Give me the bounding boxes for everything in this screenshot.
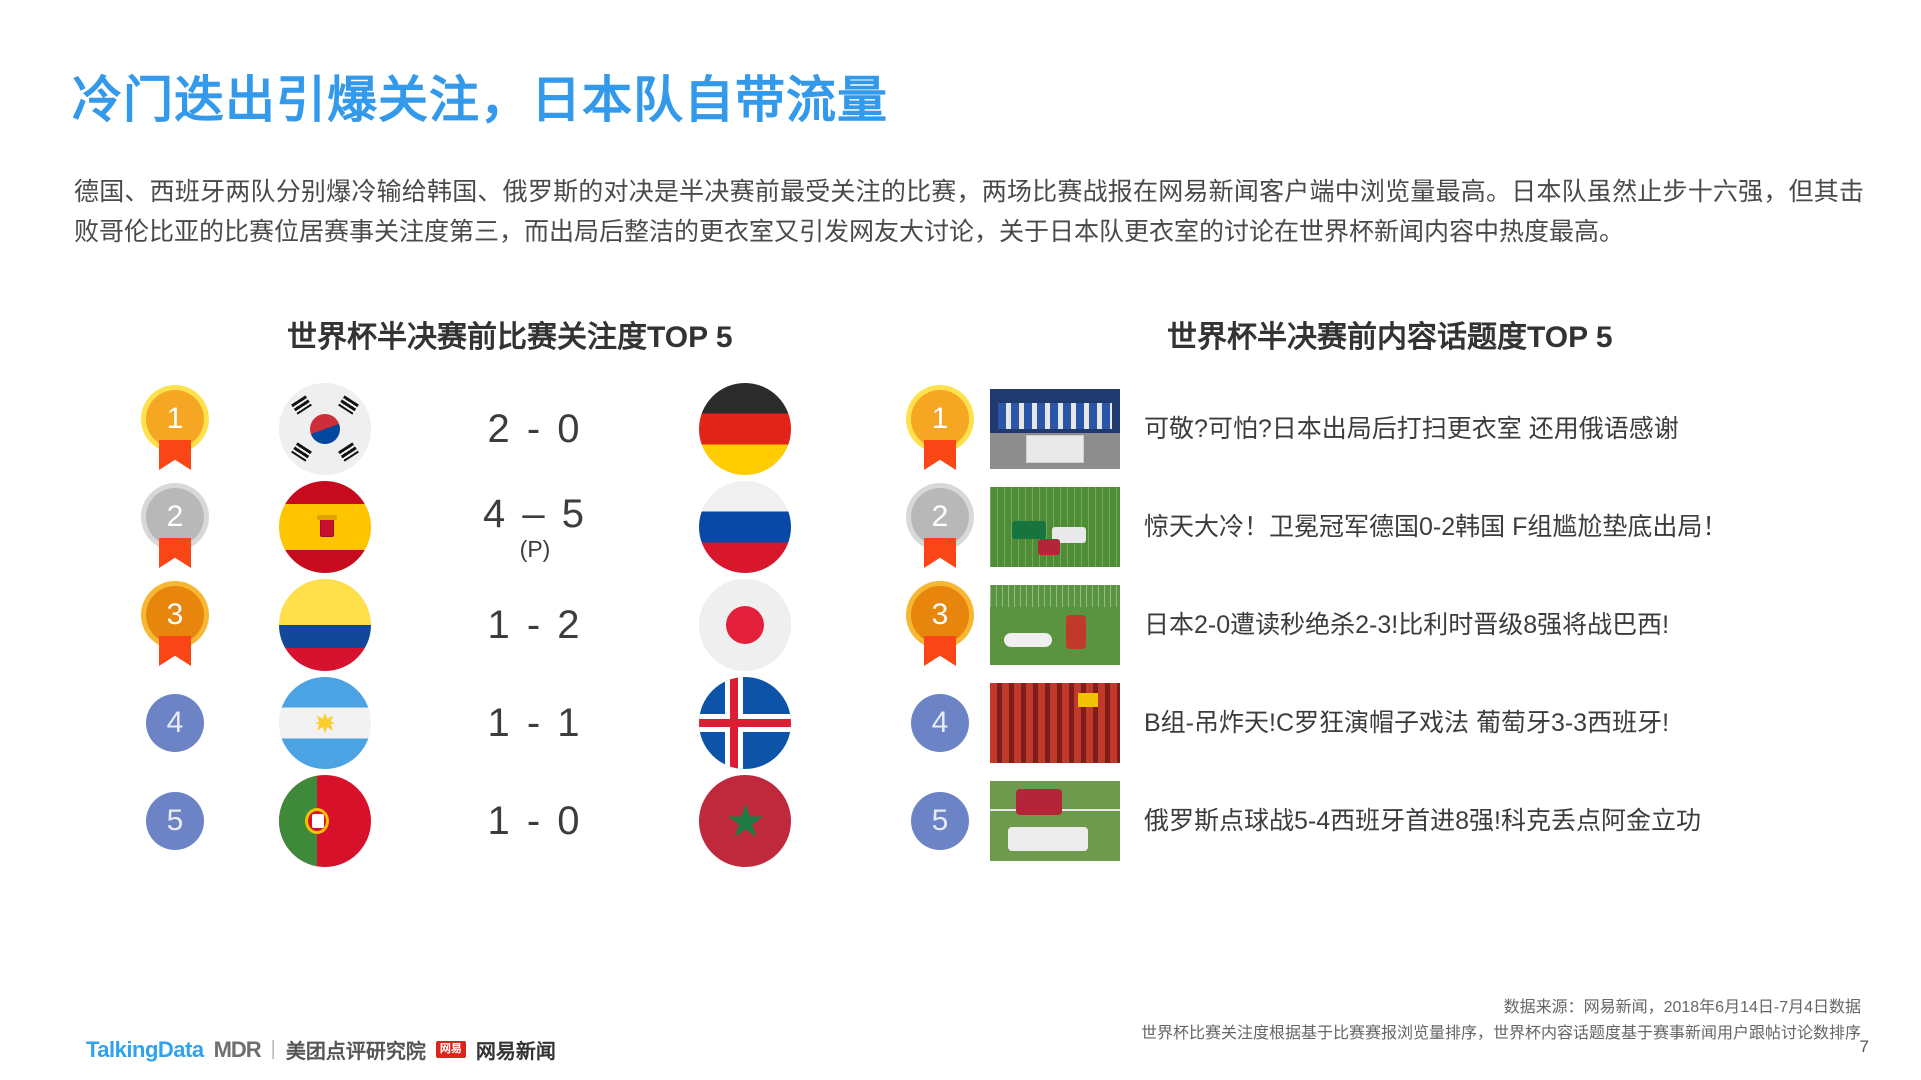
medal-ribbon-icon (159, 636, 191, 666)
match-rank-cell: 5 (120, 792, 230, 850)
away-team-flag-cell: ★ (650, 775, 840, 867)
away-team-flag-cell (650, 677, 840, 769)
medal-bronze-icon: 3 (911, 586, 969, 664)
korea-flag-icon (279, 383, 371, 475)
match-score-note: (P) (420, 536, 650, 562)
russia-flag-icon (699, 481, 791, 573)
meituan-research-logo: 美团点评研究院 (286, 1035, 426, 1064)
spain-flag-icon (279, 481, 371, 573)
news-rank-cell: 1 (890, 390, 990, 468)
medal-rank-number: 1 (911, 390, 969, 448)
match-row: 3 1 - 2 (120, 576, 920, 674)
news-row[interactable]: 4 B组-吊炸天!C罗狂演帽子戏法 葡萄牙3-3西班牙! (890, 674, 1890, 772)
news-rank-cell: 5 (890, 792, 990, 850)
locker-room-photo (990, 389, 1120, 469)
news-row[interactable]: 1 可敬?可怕?日本出局后打扫更衣室 还用俄语感谢 (890, 380, 1890, 478)
news-row[interactable]: 2 惊天大冷！卫冕冠军德国0-2韩国 F组尴尬垫底出局！ (890, 478, 1890, 576)
logo-separator: | (271, 1038, 276, 1061)
right-panel-heading: 世界杯半决赛前内容话题度TOP 5 (1167, 312, 1613, 356)
medal-ribbon-icon (924, 440, 956, 470)
news-headline: 俄罗斯点球战5-4西班牙首进8强!科克丢点阿金立功 (1144, 804, 1701, 838)
match-rank-cell: 4 (120, 694, 230, 752)
russia-celebration-photo (990, 781, 1120, 861)
home-team-flag-cell (230, 775, 420, 867)
page-title: 冷门迭出引爆关注，日本队自带流量 (72, 60, 888, 132)
footer-logos: TalkingData MDR | 美团点评研究院 网易 网易新闻 (86, 1035, 556, 1064)
morocco-flag-icon: ★ (699, 775, 791, 867)
home-team-flag-cell (230, 579, 420, 671)
medal-gold-icon: 1 (146, 390, 204, 468)
medal-silver-icon: 2 (911, 488, 969, 566)
germany-flag-icon (699, 383, 791, 475)
away-team-flag-cell (650, 579, 840, 671)
home-team-flag-cell (230, 677, 420, 769)
japan-flag-icon (699, 579, 791, 671)
news-row[interactable]: 3 日本2-0遭读秒绝杀2-3!比利时晋级8强将战巴西! (890, 576, 1890, 674)
match-row: 5 1 - 0 ★ (120, 772, 920, 870)
match-row: 1 2 - 0 (120, 380, 920, 478)
argentina-flag-icon (279, 677, 371, 769)
left-panel-heading: 世界杯半决赛前比赛关注度TOP 5 (287, 312, 733, 356)
talkingdata-logo: TalkingData (86, 1037, 204, 1063)
news-rank-cell: 2 (890, 488, 990, 566)
match-rank-cell: 3 (120, 586, 230, 664)
medal-rank-number: 1 (146, 390, 204, 448)
home-team-flag-cell (230, 383, 420, 475)
match-attention-list: 1 2 - 0 2 4 – 5 (P) (120, 380, 920, 870)
netease-news-logo: 网易新闻 (476, 1035, 556, 1064)
match-rank-cell: 1 (120, 390, 230, 468)
portugal-flag-icon (279, 775, 371, 867)
mdr-logo: MDR (214, 1037, 261, 1063)
medal-silver-icon: 2 (146, 488, 204, 566)
netease-badge-icon: 网易 (436, 1041, 466, 1058)
match-row: 4 1 - 1 (120, 674, 920, 772)
news-rank-cell: 3 (890, 586, 990, 664)
intro-paragraph: 德国、西班牙两队分别爆冷输给韩国、俄罗斯的对决是半决赛前最受关注的比赛，两场比赛… (74, 172, 1864, 252)
rank-circle-4: 4 (146, 694, 204, 752)
match-score: 1 - 1 (420, 701, 650, 745)
source-line-1: 数据来源：网易新闻，2018年6月14日-7月4日数据 (761, 995, 1861, 1021)
match-score: 2 - 0 (420, 407, 650, 451)
medal-rank-number: 3 (146, 586, 204, 644)
germany-korea-goal-photo (990, 487, 1120, 567)
match-score-cell: 1 - 1 (420, 701, 650, 745)
medal-rank-number: 3 (911, 586, 969, 644)
away-team-flag-cell (650, 481, 840, 573)
rank-circle-5: 5 (146, 792, 204, 850)
match-rank-cell: 2 (120, 488, 230, 566)
japan-belgium-photo (990, 585, 1120, 665)
medal-ribbon-icon (924, 636, 956, 666)
news-headline: 惊天大冷！卫冕冠军德国0-2韩国 F组尴尬垫底出局！ (1144, 510, 1727, 544)
match-score-cell: 1 - 2 (420, 603, 650, 647)
match-score-cell: 4 – 5 (P) (420, 492, 650, 562)
medal-rank-number: 2 (146, 488, 204, 546)
portugal-fans-photo (990, 683, 1120, 763)
match-score-cell: 2 - 0 (420, 407, 650, 451)
match-score-cell: 1 - 0 (420, 799, 650, 843)
medal-ribbon-icon (159, 538, 191, 568)
match-row: 2 4 – 5 (P) (120, 478, 920, 576)
medal-rank-number: 2 (911, 488, 969, 546)
match-score: 1 - 0 (420, 799, 650, 843)
news-headline: 可敬?可怕?日本出局后打扫更衣室 还用俄语感谢 (1144, 412, 1679, 446)
news-headline: B组-吊炸天!C罗狂演帽子戏法 葡萄牙3-3西班牙! (1144, 706, 1669, 740)
rank-circle-5: 5 (911, 792, 969, 850)
colombia-flag-icon (279, 579, 371, 671)
news-row[interactable]: 5 俄罗斯点球战5-4西班牙首进8强!科克丢点阿金立功 (890, 772, 1890, 870)
match-score: 1 - 2 (420, 603, 650, 647)
source-line-2: 世界杯比赛关注度根据基于比赛赛报浏览量排序，世界杯内容话题度基于赛事新闻用户跟帖… (761, 1021, 1861, 1047)
page-number: 7 (1860, 1037, 1869, 1057)
medal-bronze-icon: 3 (146, 586, 204, 664)
iceland-flag-icon (699, 677, 791, 769)
medal-ribbon-icon (159, 440, 191, 470)
slide: 冷门迭出引爆关注，日本队自带流量 德国、西班牙两队分别爆冷输给韩国、俄罗斯的对决… (0, 0, 1921, 1080)
home-team-flag-cell (230, 481, 420, 573)
away-team-flag-cell (650, 383, 840, 475)
rank-circle-4: 4 (911, 694, 969, 752)
news-rank-cell: 4 (890, 694, 990, 752)
medal-gold-icon: 1 (911, 390, 969, 468)
news-topic-list: 1 可敬?可怕?日本出局后打扫更衣室 还用俄语感谢 2 惊天大冷！卫冕冠军德国0… (890, 380, 1890, 870)
medal-ribbon-icon (924, 538, 956, 568)
match-score: 4 – 5 (420, 492, 650, 536)
news-headline: 日本2-0遭读秒绝杀2-3!比利时晋级8强将战巴西! (1144, 608, 1669, 642)
source-note: 数据来源：网易新闻，2018年6月14日-7月4日数据 世界杯比赛关注度根据基于… (761, 995, 1861, 1047)
